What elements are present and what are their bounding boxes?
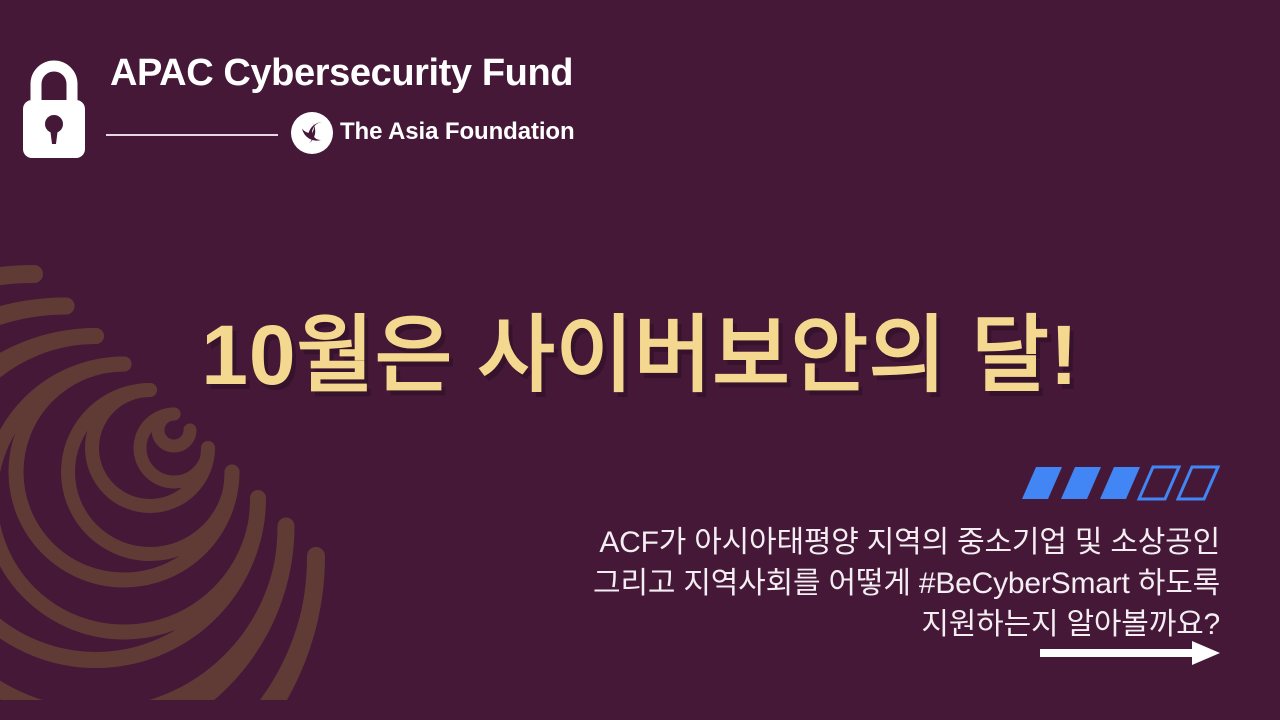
fingerprint-spiral-graphic [0,140,500,700]
body-line-2: 그리고 지역사회를 어떻게 #BeCyberSmart 하도록 [520,563,1220,604]
body-copy: ACF가 아시아태평양 지역의 중소기업 및 소상공인 그리고 지역사회를 어떻… [520,522,1220,645]
logo-lockup: APAC Cybersecurity Fund The Asia Foundat… [18,50,598,165]
fund-title: APAC Cybersecurity Fund [110,52,573,95]
arrow-right-icon [1040,640,1222,666]
chevron-bars-decoration [1022,465,1222,501]
asia-foundation-triskelion-icon [290,111,334,155]
logo-divider [106,134,278,136]
padlock-icon [18,54,90,162]
headline: 10월은 사이버보안의 달! [0,288,1280,409]
body-line-3: 지원하는지 알아볼까요? [520,604,1220,645]
poster-canvas: APAC Cybersecurity Fund The Asia Foundat… [0,0,1280,720]
foundation-name: The Asia Foundation [340,118,575,146]
body-line-1: ACF가 아시아태평양 지역의 중소기업 및 소상공인 [520,522,1220,563]
